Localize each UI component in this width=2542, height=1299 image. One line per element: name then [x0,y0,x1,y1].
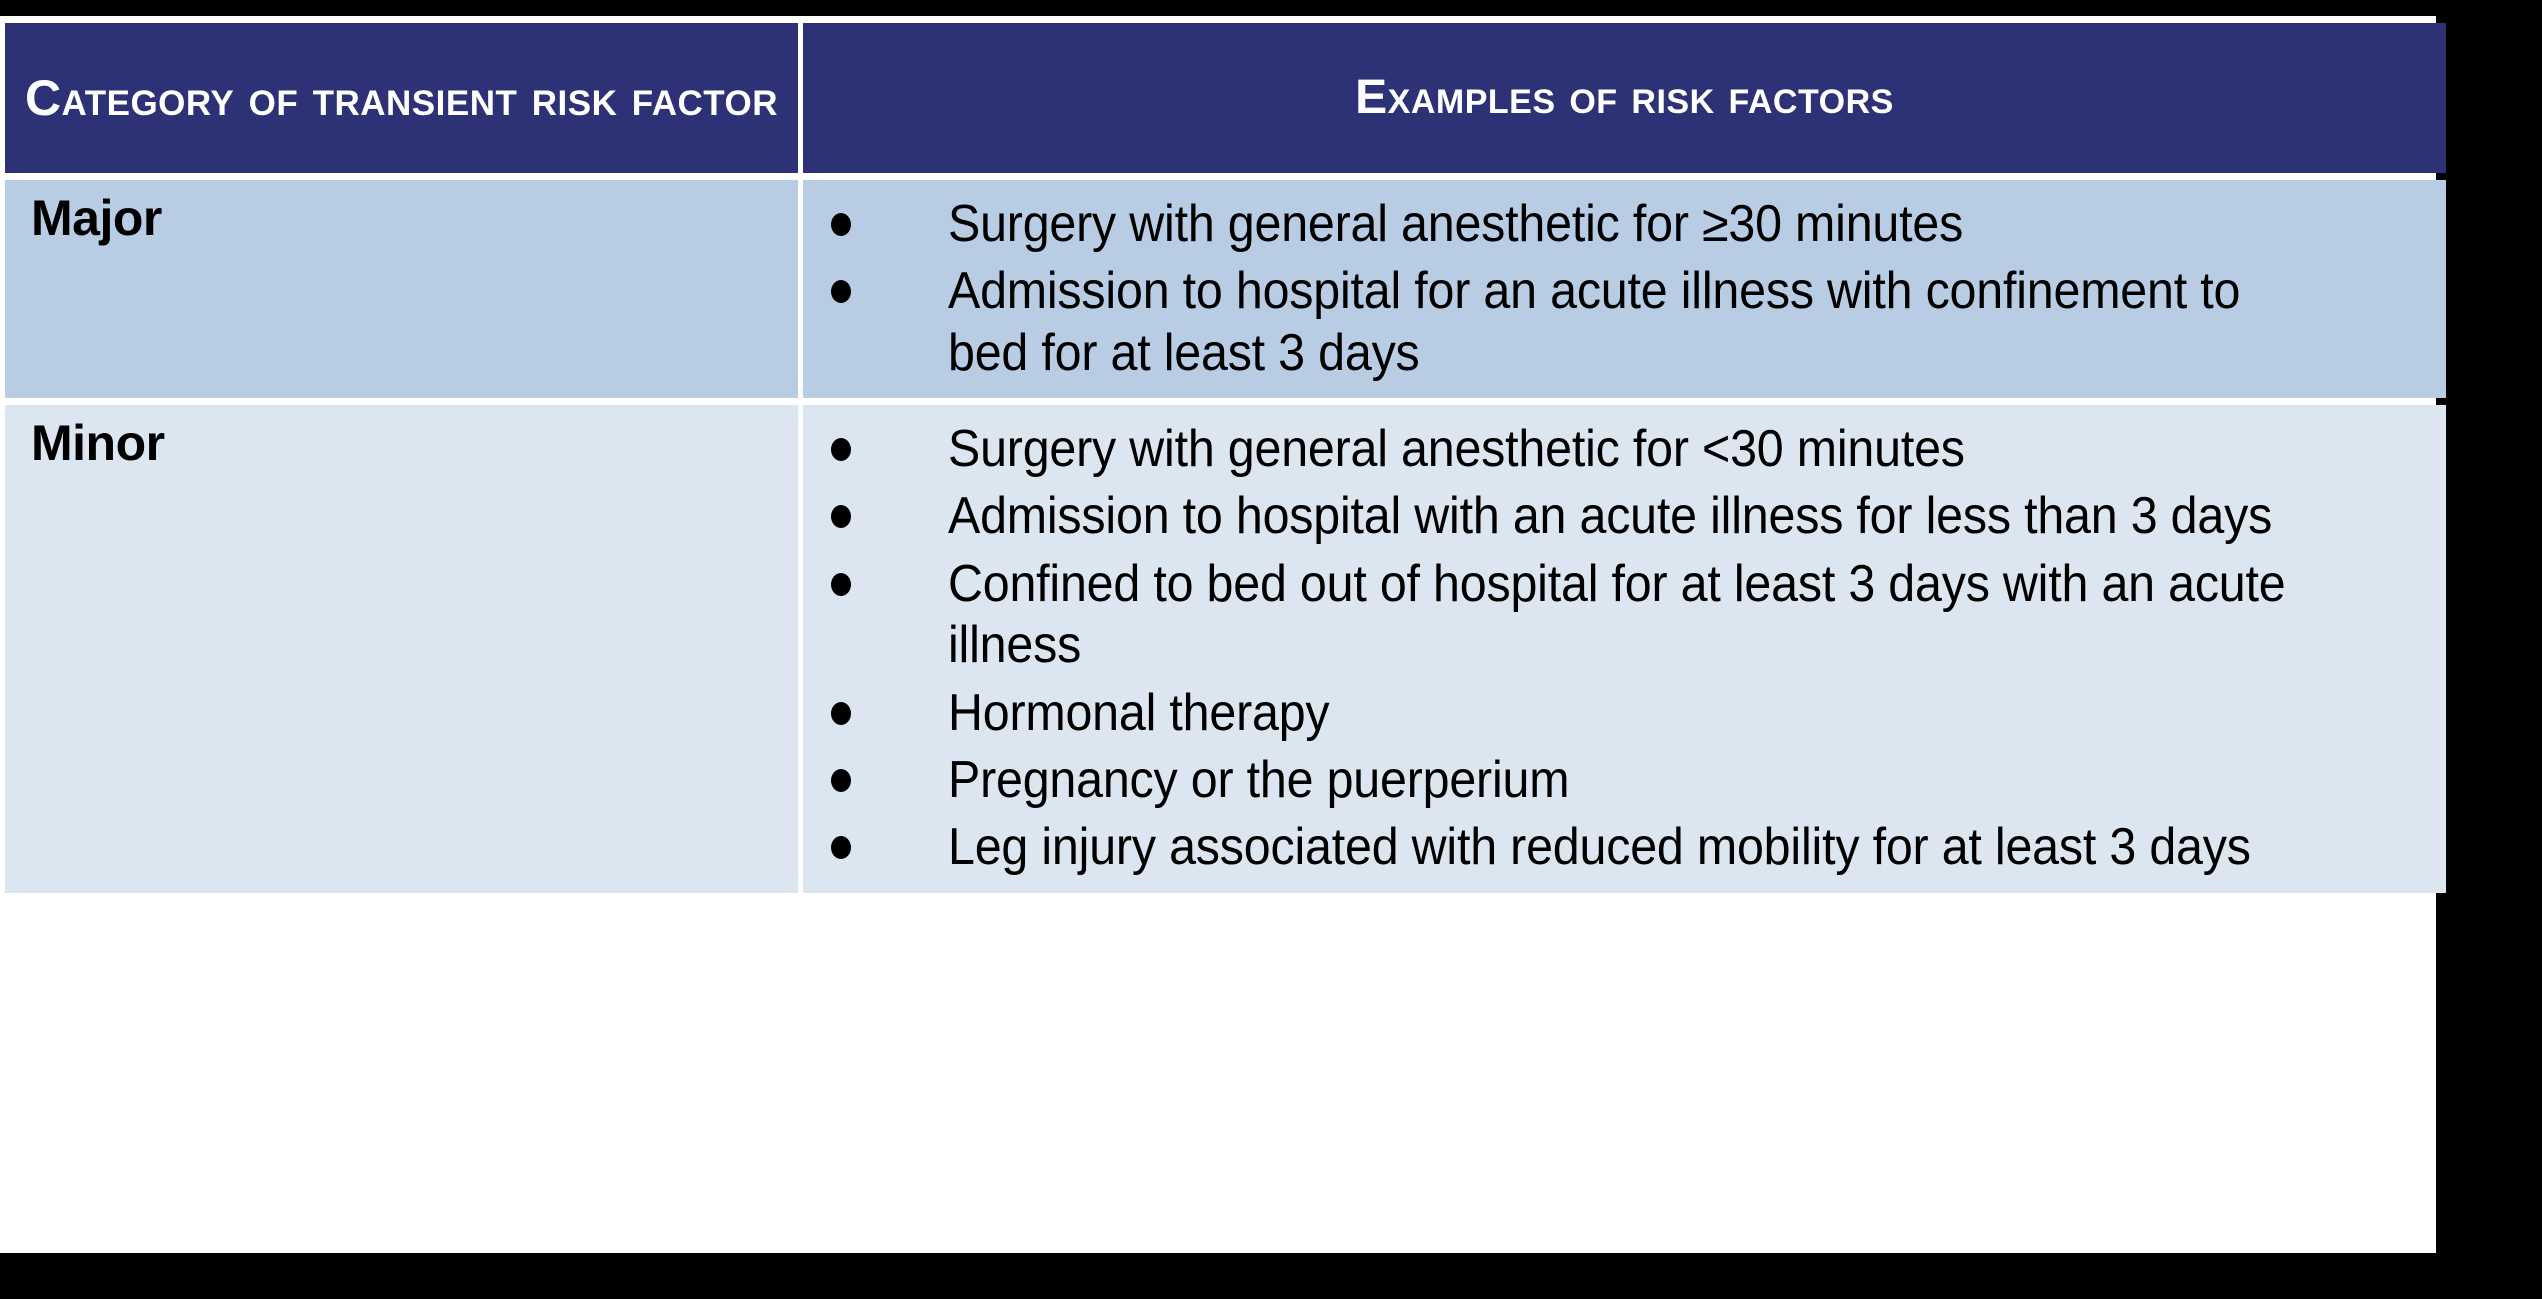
list-item: Surgery with general anesthetic for ≥30 … [803,194,2428,255]
bullet-point-icon [831,213,851,236]
bullet-point-icon [831,280,851,303]
bullet-point-icon [831,438,851,461]
bullet-text: Admission to hospital for an acute illne… [948,261,2324,384]
bullet-point-icon [831,573,851,596]
bullet-text: Hormonal therapy [948,683,1329,744]
list-item: Admission to hospital for an acute illne… [803,261,2428,384]
table-row-minor: Minor Surgery with general anesthetic fo… [5,405,2446,893]
bullet-text: Leg injury associated with reduced mobil… [948,817,2251,878]
list-item: Hormonal therapy [803,683,2428,744]
header-row: Category of transient risk factor Exampl… [5,23,2446,173]
bullet-point-icon [831,505,851,528]
column-header-category-label: Category of transient risk factor [25,70,778,126]
bullet-text: Confined to bed out of hospital for at l… [948,554,2324,677]
bullet-point-icon [831,702,851,725]
bullet-text: Admission to hospital with an acute illn… [948,486,2272,547]
bullet-list-major: Surgery with general anesthetic for ≥30 … [803,194,2428,384]
bullet-point-icon [831,836,851,859]
bullet-point-icon [831,769,851,792]
category-cell-minor: Minor [5,405,798,893]
category-label-minor: Minor [31,417,798,470]
bullet-list-minor: Surgery with general anesthetic for <30 … [803,419,2428,879]
examples-cell-major: Surgery with general anesthetic for ≥30 … [803,180,2446,398]
column-header-category: Category of transient risk factor [5,23,798,173]
list-item: Pregnancy or the puerperium [803,750,2428,811]
table-row-major: Major Surgery with general anesthetic fo… [5,180,2446,398]
list-item: Leg injury associated with reduced mobil… [803,817,2428,878]
list-item: Confined to bed out of hospital for at l… [803,554,2428,677]
list-item: Surgery with general anesthetic for <30 … [803,419,2428,480]
column-header-examples: Examples of risk factors [803,23,2446,173]
category-cell-major: Major [5,180,798,398]
table-frame: Category of transient risk factor Exampl… [0,16,2436,1253]
table-body: Major Surgery with general anesthetic fo… [5,180,2446,893]
bullet-text: Pregnancy or the puerperium [948,750,1569,811]
transient-risk-factor-table: Category of transient risk factor Exampl… [0,16,2451,900]
examples-cell-minor: Surgery with general anesthetic for <30 … [803,405,2446,893]
category-label-major: Major [31,192,798,245]
bullet-text: Surgery with general anesthetic for ≥30 … [948,194,1963,255]
table-header: Category of transient risk factor Exampl… [5,23,2446,173]
list-item: Admission to hospital with an acute illn… [803,486,2428,547]
column-header-examples-label: Examples of risk factors [1355,71,1894,124]
bullet-text: Surgery with general anesthetic for <30 … [948,419,1965,480]
slide-canvas: Category of transient risk factor Exampl… [0,0,2542,1299]
